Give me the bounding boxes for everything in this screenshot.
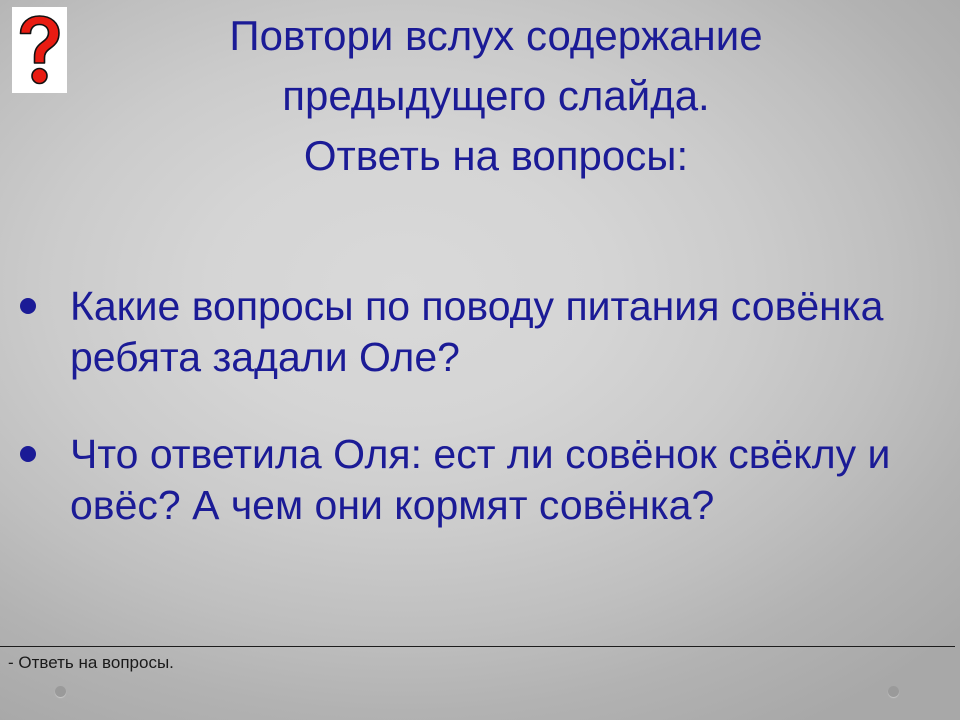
presentation-slide: Повтори вслух содержание предыдущего сла… [0,0,960,720]
question-mark-icon [18,14,62,86]
decorative-dot-left [55,686,66,697]
footer-divider [0,646,955,647]
slide-body: Какие вопросы по поводу питания совёнка … [10,281,950,531]
title-line-2: предыдущего слайда. [96,66,896,126]
question-mark-image [12,7,67,93]
slide-title: Повтори вслух содержание предыдущего сла… [96,6,896,186]
bullet-text: Что ответила Оля: ест ли совёнок свёклу … [70,429,950,531]
bullet-dot-icon [20,446,36,462]
title-line-1: Повтори вслух содержание [96,6,896,66]
decorative-dot-right [888,686,899,697]
bullet-dot-icon [20,298,36,314]
list-item: Что ответила Оля: ест ли совёнок свёклу … [10,429,950,531]
title-line-3: Ответь на вопросы: [96,126,896,186]
bullet-text: Какие вопросы по поводу питания совёнка … [70,281,950,383]
footer-note: - Ответь на вопросы. [8,652,174,674]
list-item: Какие вопросы по поводу питания совёнка … [10,281,950,383]
